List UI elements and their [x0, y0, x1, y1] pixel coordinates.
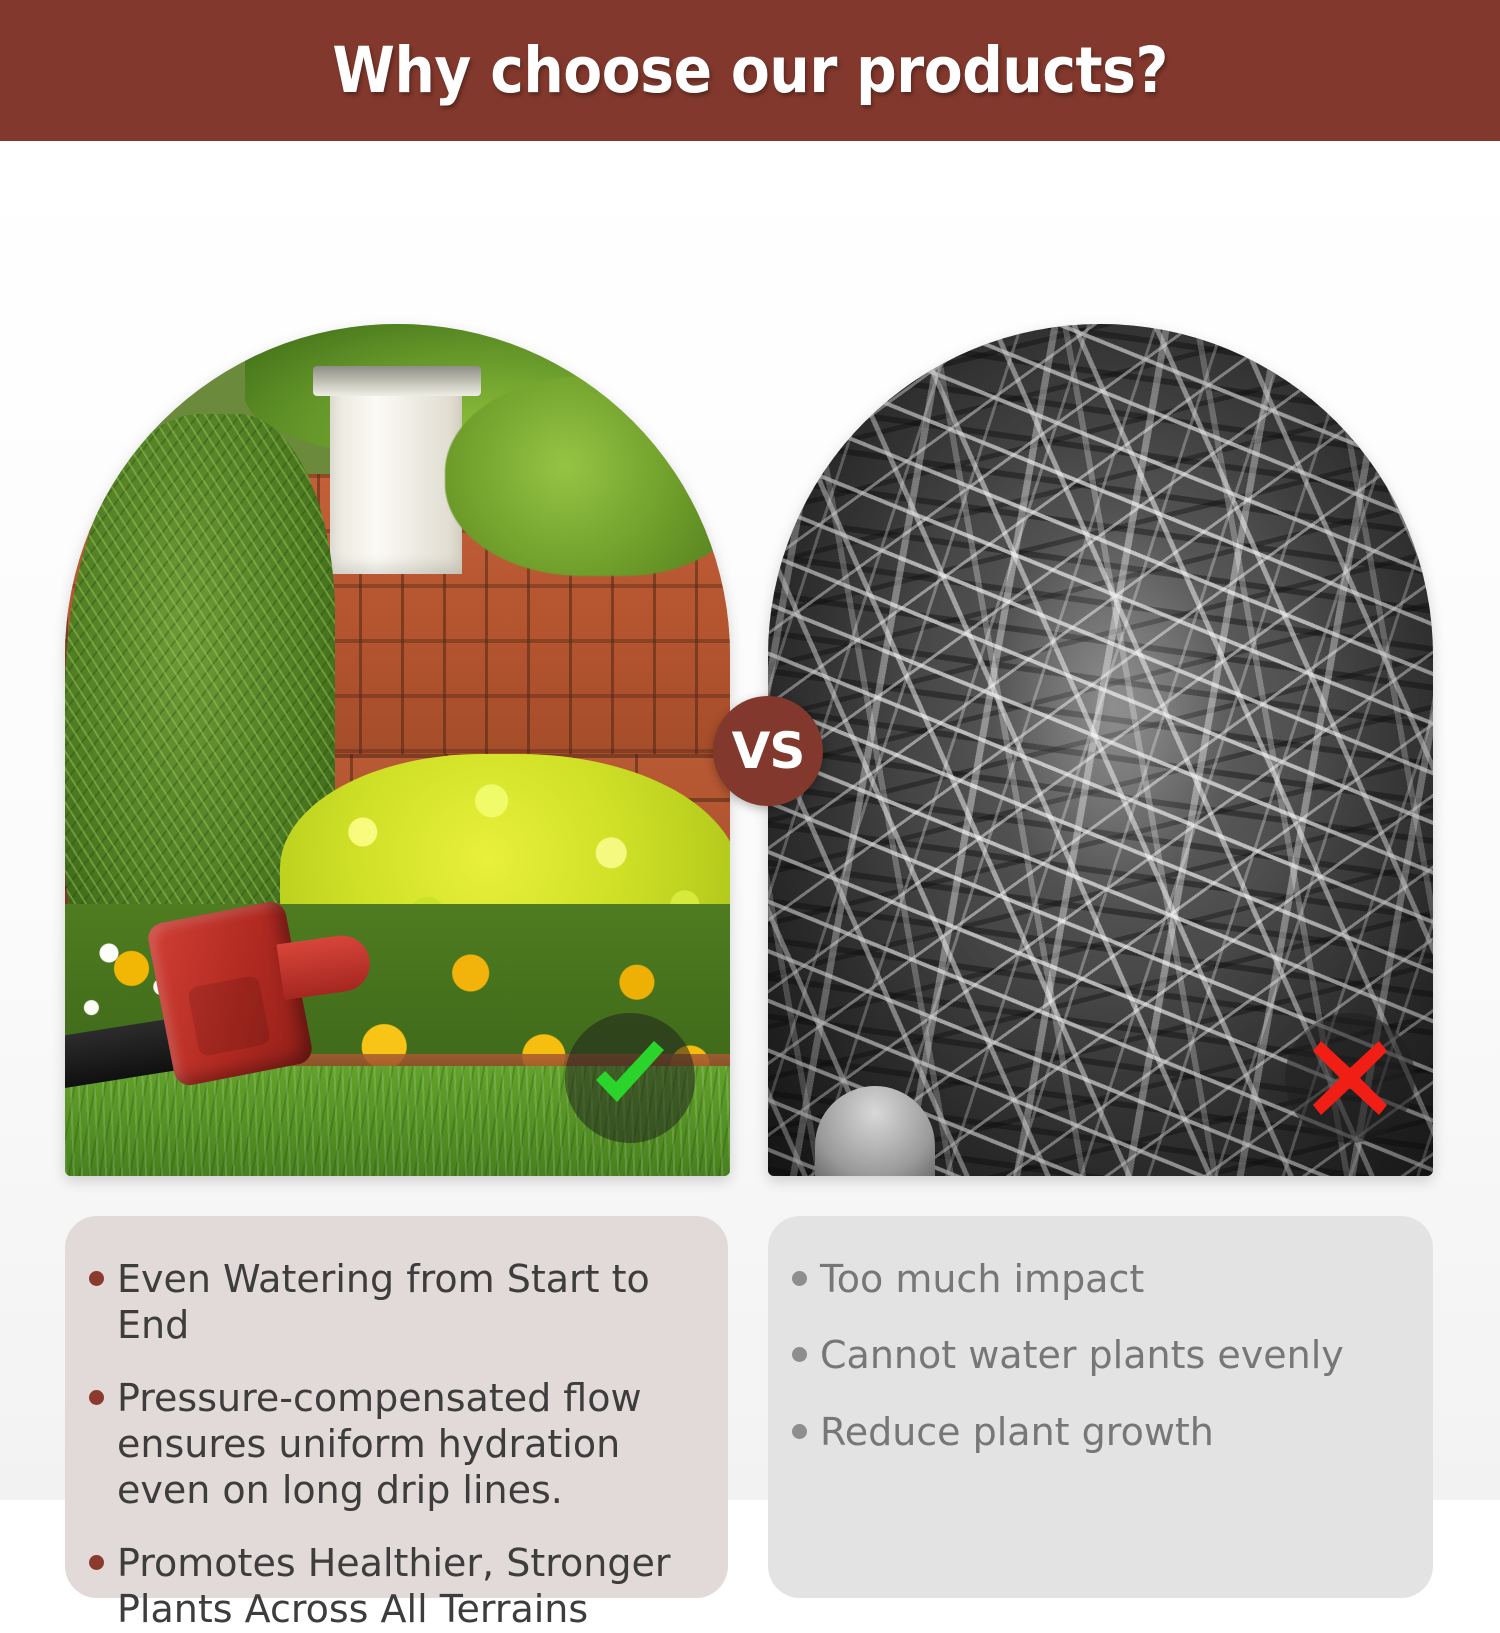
cons-item-label: Too much impact [820, 1256, 1144, 1302]
list-item: Cannot water plants evenly [792, 1332, 1399, 1378]
emitter-tab [187, 975, 271, 1057]
cons-panel: Too much impact Cannot water plants even… [768, 1216, 1433, 1598]
bullet-dot-icon [89, 1390, 104, 1405]
cons-item-label: Reduce plant growth [820, 1409, 1214, 1455]
bullet-dot-icon [89, 1271, 104, 1286]
bullet-dot-icon [792, 1347, 807, 1362]
bullet-dot-icon [792, 1271, 807, 1286]
pros-panel: Even Watering from Start to End Pressure… [65, 1216, 728, 1598]
cons-bullet-list: Too much impact Cannot water plants even… [792, 1256, 1399, 1455]
good-status-badge [565, 1013, 695, 1143]
bullet-dot-icon [792, 1424, 807, 1439]
header-bar: Why choose our products? [0, 0, 1500, 141]
bullet-dot-icon [89, 1555, 104, 1570]
bad-status-badge [1285, 1013, 1415, 1143]
pros-item-label: Promotes Healthier, Stronger Plants Acro… [117, 1540, 694, 1633]
check-icon [584, 1032, 676, 1124]
hedge-right [445, 376, 730, 576]
list-item: Too much impact [792, 1256, 1399, 1302]
pros-item-label: Even Watering from Start to End [117, 1256, 694, 1349]
list-item: Even Watering from Start to End [89, 1256, 694, 1349]
cons-item-label: Cannot water plants evenly [820, 1332, 1344, 1378]
pillar-cap [313, 366, 481, 396]
pros-item-label: Pressure-compensated flow ensures unifor… [117, 1375, 694, 1514]
pros-bullet-list: Even Watering from Start to End Pressure… [89, 1256, 694, 1633]
page-title: Why choose our products? [332, 34, 1167, 107]
list-item: Promotes Healthier, Stronger Plants Acro… [89, 1540, 694, 1633]
white-pillar [330, 384, 462, 574]
list-item: Reduce plant growth [792, 1409, 1399, 1455]
list-item: Pressure-compensated flow ensures unifor… [89, 1375, 694, 1514]
vs-label: VS [732, 726, 805, 776]
cross-icon [1307, 1035, 1393, 1121]
comparison-stage: VS Even Watering from Start to End Press… [0, 141, 1500, 1500]
vs-badge: VS [713, 696, 823, 806]
